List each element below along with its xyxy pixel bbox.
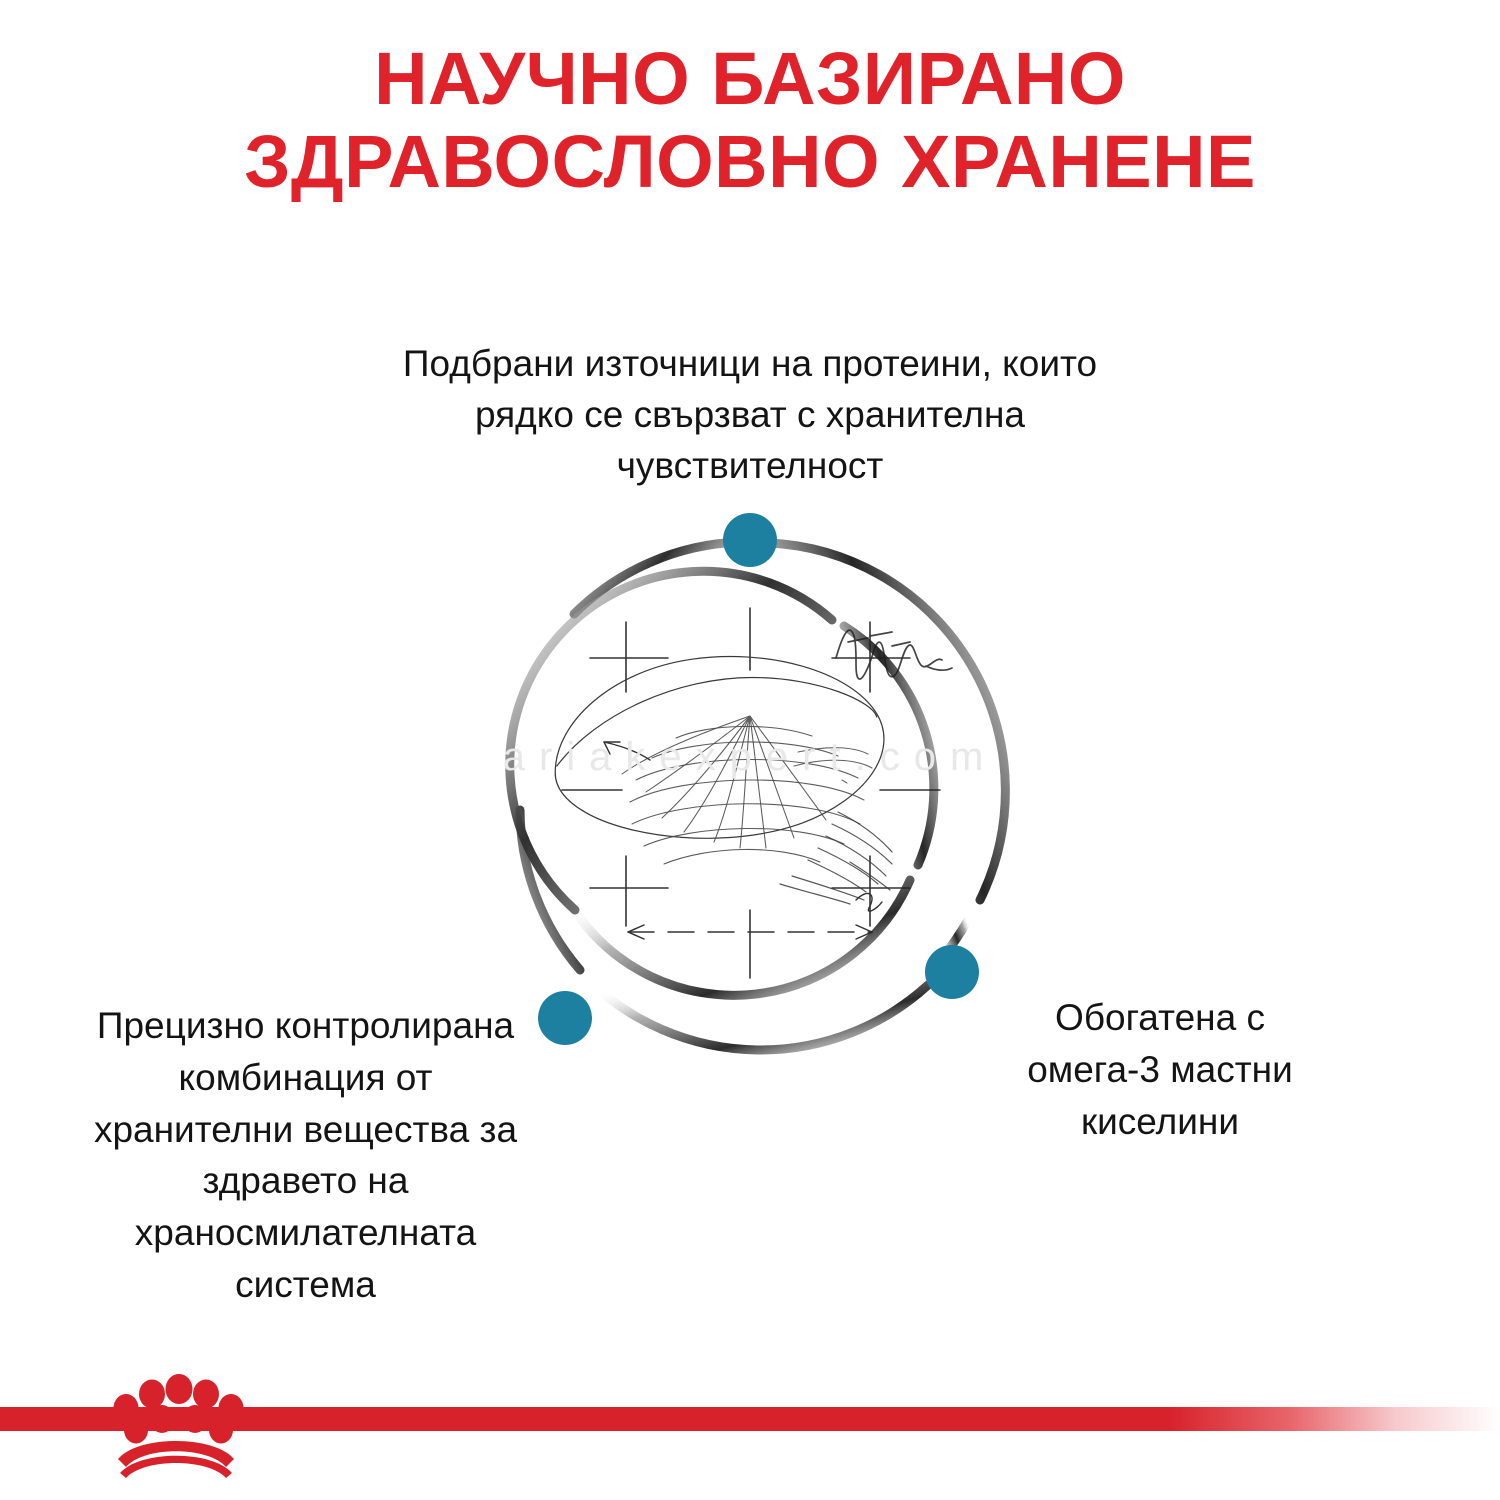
kibble-highlights: [794, 748, 872, 783]
kibble-latitudes: [630, 726, 864, 864]
title-line-1: НАУЧНО БАЗИРАНО: [0, 38, 1500, 121]
benefit-text-protein-sources: Подбрани източници на протеини, които ря…: [375, 338, 1125, 491]
royal-canin-crown-logo: [100, 1374, 252, 1478]
node-dot-bottom-left: [538, 991, 592, 1045]
central-graphic: [440, 480, 1060, 1100]
benefit-text-digestive-health: Прецизно контролирана комбинация от хран…: [78, 1000, 533, 1311]
title-line-2: ЗДРАВОСЛОВНО ХРАНЕНЕ: [0, 121, 1500, 204]
node-dot-top: [723, 513, 777, 567]
kibble-shading: [780, 812, 892, 904]
page-title: НАУЧНО БАЗИРАНО ЗДРАВОСЛОВНО ХРАНЕНЕ: [0, 38, 1500, 204]
leader-arrow: [604, 742, 650, 760]
benefit-text-omega-3: Обогатена с омега-3 мастни киселини: [1010, 992, 1310, 1147]
kibble-corner-squiggle: [856, 893, 882, 911]
node-dot-bottom-right: [925, 945, 979, 999]
